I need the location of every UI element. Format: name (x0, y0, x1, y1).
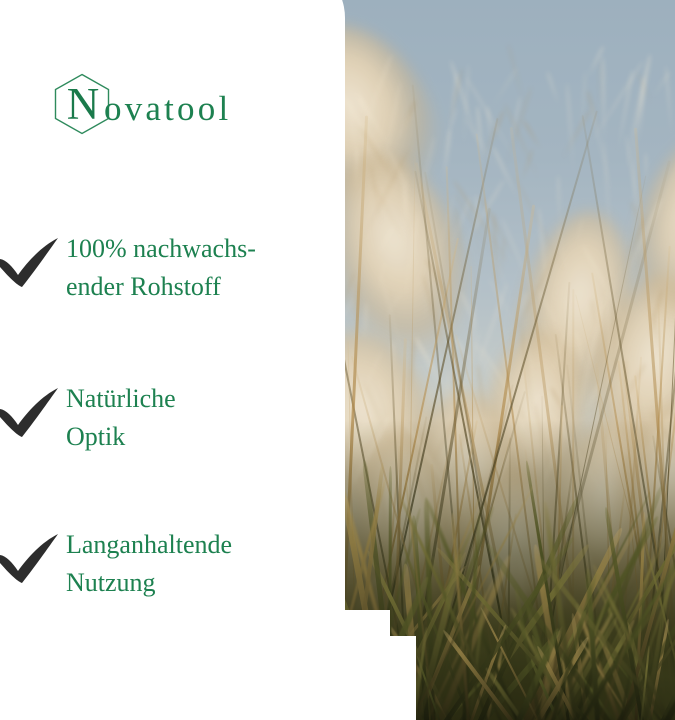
brand-logo[interactable]: N ovatool (54, 70, 314, 140)
benefit-item-3: Langanhaltende Nutzung (0, 524, 330, 602)
card-bottom-notch (296, 636, 416, 720)
benefit-item-2: Natürliche Optik (0, 378, 330, 456)
checkmark-icon (0, 526, 66, 588)
benefit-label-1: 100% nachwachs- ender Rohstoff (66, 228, 256, 306)
checkmark-icon (0, 230, 66, 292)
benefit-item-1: 100% nachwachs- ender Rohstoff (0, 228, 330, 306)
product-feature-infographic: N ovatool 100% nachwachs- ender Rohstoff… (0, 0, 675, 720)
benefit-label-2: Natürliche Optik (66, 378, 176, 456)
benefit-label-3: Langanhaltende Nutzung (66, 524, 232, 602)
logo-initial: N (63, 77, 103, 131)
checkmark-icon (0, 380, 66, 442)
pampas-grass-photo (330, 0, 675, 720)
benefit-line: 100% nachwachs- (66, 230, 256, 268)
benefit-line: Langanhaltende (66, 526, 232, 564)
benefit-line: Natürliche (66, 380, 176, 418)
benefit-line: Optik (66, 418, 176, 456)
logo-wordmark: ovatool (104, 89, 231, 129)
benefit-line: ender Rohstoff (66, 268, 256, 306)
benefit-line: Nutzung (66, 564, 232, 602)
